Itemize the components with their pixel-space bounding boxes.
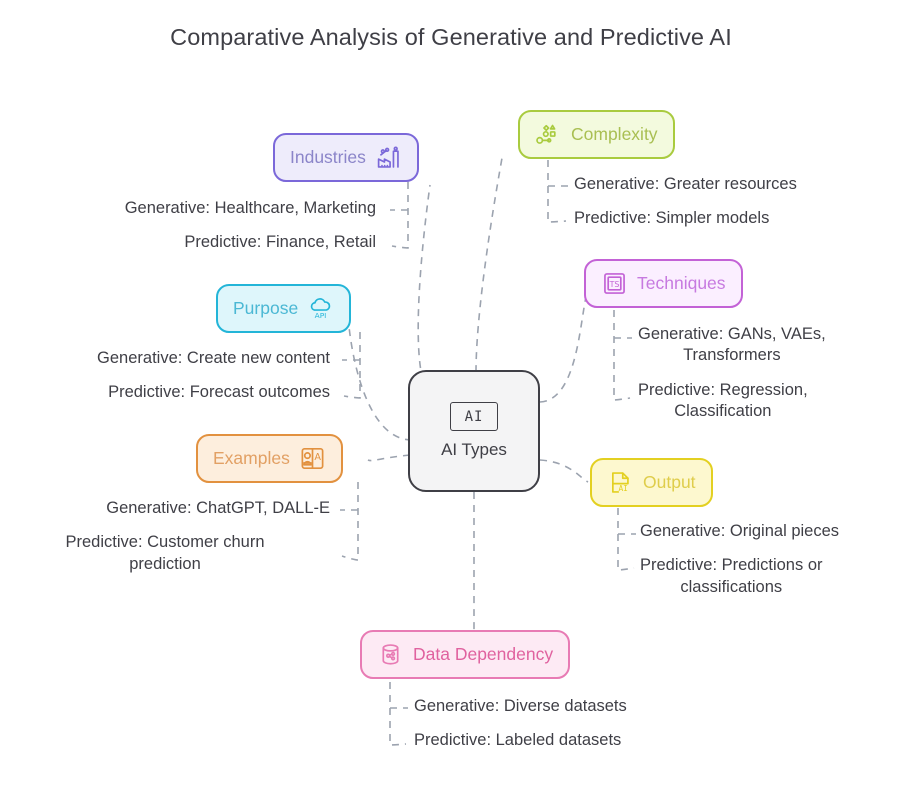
sub-items-industries: Generative: Healthcare, Marketing Predic… — [0, 198, 376, 254]
sub-item: Generative: GANs, VAEs, Transformers — [638, 324, 826, 367]
branch-label-examples: Examples — [213, 450, 290, 468]
sub-items-data-dependency: Generative: Diverse datasets Predictive:… — [414, 696, 627, 752]
branch-node-techniques[interactable]: TS Techniques — [584, 259, 743, 308]
sub-item: Predictive: Predictions or classificatio… — [640, 555, 823, 598]
branch-node-output[interactable]: AI Output — [590, 458, 713, 507]
branch-node-complexity[interactable]: Complexity — [518, 110, 675, 159]
branch-label-output: Output — [643, 474, 696, 492]
shapes-cluster-icon — [535, 121, 562, 148]
sub-items-complexity: Generative: Greater resources Predictive… — [574, 174, 797, 230]
mindmap-canvas: Comparative Analysis of Generative and P… — [0, 0, 902, 804]
sub-items-output: Generative: Original pieces Predictive: … — [640, 521, 839, 598]
cloud-api-icon: API — [307, 295, 334, 322]
svg-text:AI: AI — [618, 484, 627, 493]
page-title: Comparative Analysis of Generative and P… — [0, 24, 902, 51]
sub-item: Predictive: Regression, Classification — [638, 380, 808, 423]
svg-text:A: A — [314, 452, 321, 463]
sub-item: Predictive: Labeled datasets — [414, 730, 621, 751]
svg-text:TS: TS — [609, 280, 620, 289]
branch-node-examples[interactable]: A Examples — [196, 434, 343, 483]
svg-text:API: API — [315, 311, 327, 320]
factory-icon — [375, 144, 402, 171]
database-icon — [377, 641, 404, 668]
sub-item: Generative: Greater resources — [574, 174, 797, 195]
sub-items-examples: Generative: ChatGPT, DALL-E Predictive: … — [0, 498, 330, 575]
branch-label-techniques: Techniques — [637, 275, 726, 293]
branch-label-purpose: Purpose — [233, 300, 298, 318]
center-node-label: AI Types — [441, 440, 507, 460]
sub-item: Generative: Original pieces — [640, 521, 839, 542]
branch-label-data-dependency: Data Dependency — [413, 646, 553, 664]
branch-label-industries: Industries — [290, 149, 366, 167]
branch-node-purpose[interactable]: API Purpose — [216, 284, 351, 333]
branch-node-data-dependency[interactable]: Data Dependency — [360, 630, 570, 679]
sub-items-purpose: Generative: Create new content Predictiv… — [0, 348, 330, 404]
sub-item: Generative: Diverse datasets — [414, 696, 627, 717]
ai-chip-icon: AI — [450, 402, 498, 431]
sub-item: Predictive: Customer churn prediction — [0, 532, 330, 575]
sub-item: Generative: Healthcare, Marketing — [125, 198, 376, 219]
sub-item: Predictive: Simpler models — [574, 208, 769, 229]
sub-item: Generative: Create new content — [97, 348, 330, 369]
sub-items-techniques: Generative: GANs, VAEs, Transformers Pre… — [638, 324, 826, 423]
sub-item: Predictive: Forecast outcomes — [108, 382, 330, 403]
ts-box-icon: TS — [601, 270, 628, 297]
document-ai-icon: AI — [607, 469, 634, 496]
branch-label-complexity: Complexity — [571, 126, 658, 144]
center-node-ai-types[interactable]: AI AI Types — [408, 370, 540, 492]
sub-item: Generative: ChatGPT, DALL-E — [106, 498, 330, 519]
robot-translate-icon: A — [299, 445, 326, 472]
branch-node-industries[interactable]: Industries — [273, 133, 419, 182]
sub-item: Predictive: Finance, Retail — [184, 232, 376, 253]
